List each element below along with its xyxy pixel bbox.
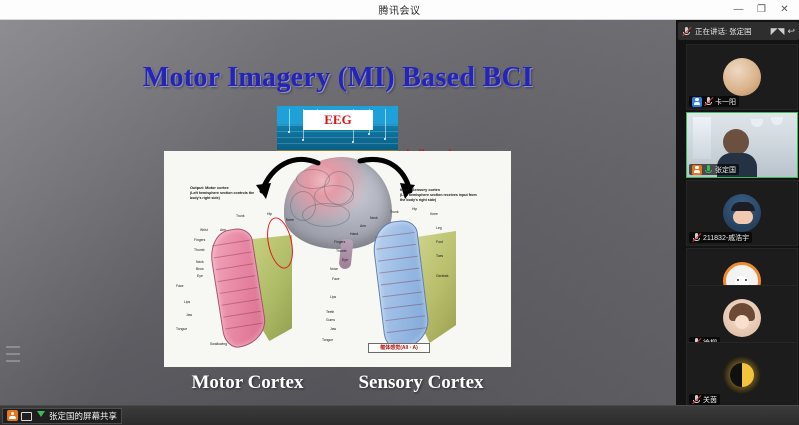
sensory-label-genitals: Genitals <box>436 275 448 278</box>
sensory-label-hip: Hip <box>412 208 417 211</box>
motor-label-eye: Eye <box>197 275 203 278</box>
motor-label-thumb: Thumb <box>194 249 205 252</box>
avatar <box>723 299 761 337</box>
sensory-label-hand: Hand <box>350 233 358 236</box>
close-button[interactable]: ✕ <box>773 0 796 20</box>
window-title: 腾讯会议 <box>379 2 421 17</box>
rail-controls[interactable]: ◤◥ ↩ <box>771 27 795 36</box>
restore-button[interactable]: ❐ <box>750 0 773 20</box>
sensory-label-toes: Toes <box>436 255 443 258</box>
participant-tile[interactable]: 卡一阳 <box>686 44 798 110</box>
sensory-label-leg: Leg <box>436 227 442 230</box>
participant-tile[interactable]: 211832-戚浩宇 <box>686 180 798 246</box>
participant-name: 张定国 <box>715 165 736 175</box>
taskbar: 张定国的屏幕共享 <box>0 405 799 425</box>
mic-active-icon <box>704 165 713 174</box>
caption-motor-cortex: Motor Cortex <box>191 372 303 394</box>
sensory-label-arm: Arm <box>360 225 366 228</box>
eeg-label: EEG <box>303 110 373 130</box>
participant-tile[interactable]: 关茵 <box>686 342 798 408</box>
slide-title: Motor Imagery (MI) Based BCI <box>0 62 676 94</box>
motor-label-tongue: Tongue <box>176 328 187 331</box>
sensory-label-foot: Foot <box>436 241 443 244</box>
sensory-label-knee: Knee <box>430 213 438 216</box>
sensory-label-trunk: Trunk <box>390 211 399 214</box>
screen-icon <box>21 412 32 421</box>
zh-annotation-box: 躯体感觉(All · A) <box>368 343 430 353</box>
sensory-label-nose: Nose <box>330 268 338 271</box>
motor-label-arm: Arm <box>220 229 226 232</box>
motor-label-lips: Lips <box>184 301 190 304</box>
motor-label-neck: Neck <box>196 261 204 264</box>
mic-muted-icon <box>692 233 701 242</box>
motor-label-jaw: Jaw <box>186 314 192 317</box>
screen-share-label: 张定国的屏幕共享 <box>49 410 117 422</box>
sensory-label-face: Face <box>332 278 340 281</box>
participant-nametag: 张定国 <box>689 164 739 175</box>
gallery-view-icon[interactable]: ◤◥ <box>771 27 785 36</box>
motor-label-swallowing: Swallowing <box>210 343 227 346</box>
collapse-rail-icon[interactable]: ↩ <box>787 27 795 36</box>
tencent-meeting-window: 腾讯会议 — ❐ ✕ Motor Imagery (MI) Based BCI <box>0 0 799 425</box>
download-arrow-icon <box>35 410 46 421</box>
window-titlebar: 腾讯会议 — ❐ ✕ <box>0 0 799 20</box>
sensory-label-jaw: Jaw <box>330 328 336 331</box>
participant-name: 关茵 <box>703 395 717 405</box>
motor-label-hip: Hip <box>267 213 272 216</box>
mic-muted-icon <box>682 27 691 36</box>
note-input-body: (Left hemisphere section receives input … <box>400 193 477 202</box>
participant-tile[interactable]: 张定国 <box>686 112 798 178</box>
motor-label-trunk: Trunk <box>236 215 245 218</box>
avatar <box>723 58 761 96</box>
sensory-label-tongue: Tongue <box>322 339 333 342</box>
mic-muted-icon <box>704 97 713 106</box>
motor-label-knee: Knee <box>286 219 294 222</box>
sensory-label-lips: Lips <box>330 296 336 299</box>
motor-label-wrist: Wrist <box>200 229 208 232</box>
motor-label-fingers: Fingers <box>194 239 205 242</box>
sensory-label-neck: Neck <box>370 217 378 220</box>
presentation-slide: Motor Imagery (MI) Based BCI <box>0 20 676 405</box>
slide-captions: Motor Cortex Sensory Cortex <box>164 372 511 394</box>
sensory-label-gums: Gums <box>326 319 335 322</box>
mic-muted-icon <box>692 395 701 404</box>
note-output: Output: Motor cortex (Left hemisphere se… <box>190 185 262 201</box>
caption-sensory-cortex: Sensory Cortex <box>358 372 483 394</box>
sensory-label-thumb: Thumb <box>336 250 347 253</box>
note-input: Input: Sensory cortex (Left hemisphere s… <box>400 187 480 203</box>
avatar <box>723 194 761 232</box>
person-icon <box>7 410 18 421</box>
avatar <box>723 356 761 394</box>
host-badge-icon <box>692 97 702 107</box>
minimize-button[interactable]: — <box>727 0 750 20</box>
list-menu-icon[interactable] <box>6 346 20 362</box>
sensory-label-teeth: Teeth <box>326 311 334 314</box>
motor-label-brow: Brow <box>196 268 204 271</box>
homunculus-figure: Output: Motor cortex (Left hemisphere se… <box>164 151 511 367</box>
shared-screen-stage[interactable]: Motor Imagery (MI) Based BCI <box>0 20 676 405</box>
note-output-body: (Left hemisphere section controls the bo… <box>190 191 254 200</box>
screen-share-taskbar-item[interactable]: 张定国的屏幕共享 <box>2 408 122 424</box>
motor-label-face: Face <box>176 285 184 288</box>
participant-name: 211832-戚浩宇 <box>703 233 749 243</box>
host-badge-icon <box>692 165 702 175</box>
window-controls: — ❐ ✕ <box>727 0 799 20</box>
active-speaker-label: 正在讲话: 张定国 <box>695 26 752 37</box>
sensory-label-fingers: Fingers <box>334 241 345 244</box>
sensory-label-eye: Eye <box>342 259 348 262</box>
active-speaker-bar[interactable]: 正在讲话: 张定国 ◤◥ ↩ <box>678 22 799 40</box>
participant-nametag: 卡一阳 <box>689 96 739 107</box>
participant-nametag: 关茵 <box>689 394 720 405</box>
participant-nametag: 211832-戚浩宇 <box>689 232 752 243</box>
participant-name: 卡一阳 <box>715 97 736 107</box>
